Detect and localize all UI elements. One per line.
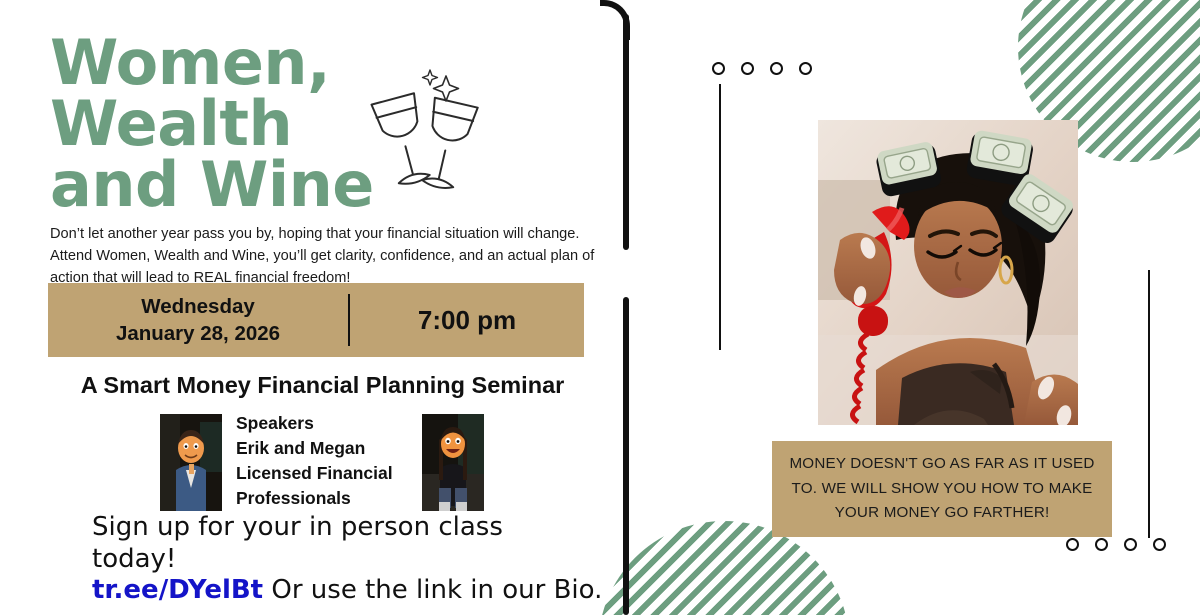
speakers-section: Speakers Erik and Megan Licensed Financi… [160, 414, 500, 514]
event-day-of-week: Wednesday [48, 293, 348, 320]
quote-text: MONEY DOESN'T GO AS FAR AS IT USED TO. W… [772, 452, 1112, 526]
left-content-column: Women, Wealth and Wine Don’t let another… [0, 0, 600, 615]
seminar-subtitle: A Smart Money Financial Planning Seminar [50, 372, 595, 399]
event-time: 7:00 pm [350, 305, 584, 336]
circle-dot-icon [770, 62, 783, 75]
date-time-banner: Wednesday January 28, 2026 7:00 pm [48, 283, 584, 357]
event-flyer: Women, Wealth and Wine Don’t let another… [0, 0, 1200, 615]
speakers-heading: Speakers [236, 411, 426, 436]
signup-headline: Sign up for your in person class today! [92, 512, 592, 575]
intro-paragraph: Don’t let another year pass you by, hopi… [50, 223, 595, 290]
thin-vertical-line-bottom-right-decoration [1148, 270, 1150, 538]
megan-portrait-illustration [422, 414, 484, 511]
speakers-text-block: Speakers Erik and Megan Licensed Financi… [236, 411, 426, 510]
hero-photo [818, 120, 1078, 425]
quote-box: MONEY DOESN'T GO AS FAR AS IT USED TO. W… [772, 441, 1112, 537]
signup-url-link[interactable]: tr.ee/DYelBt [92, 575, 263, 605]
woman-on-telephone-illustration [818, 120, 1078, 425]
speakers-names: Erik and Megan [236, 436, 426, 461]
speakers-credential-line-2: Professionals [236, 486, 426, 511]
circle-dot-icon [799, 62, 812, 75]
signup-bio-note: Or use the link in our Bio. [263, 575, 602, 605]
thin-vertical-line-top-right-decoration [719, 84, 721, 350]
speaker-photo-erik [160, 414, 222, 511]
event-date: January 28, 2026 [48, 320, 348, 347]
vertical-bar-lower-decoration [623, 297, 629, 615]
signup-call-to-action: Sign up for your in person class today! … [92, 512, 592, 607]
dot-row-top-decoration [712, 62, 812, 75]
circle-dot-icon [1066, 538, 1079, 551]
circle-dot-icon [1153, 538, 1166, 551]
speaker-photo-megan [422, 414, 484, 511]
wine-glasses-toast-icon [338, 68, 508, 198]
signup-link-line: tr.ee/DYelBt Or use the link in our Bio. [92, 575, 592, 607]
dot-row-bottom-decoration [1066, 538, 1166, 551]
circle-dot-icon [1124, 538, 1137, 551]
vertical-bar-upper-decoration [623, 14, 629, 250]
circle-dot-icon [712, 62, 725, 75]
erik-portrait-illustration [160, 414, 222, 511]
circle-dot-icon [741, 62, 754, 75]
speakers-credential-line-1: Licensed Financial [236, 461, 426, 486]
event-date-group: Wednesday January 28, 2026 [48, 293, 348, 347]
circle-dot-icon [1095, 538, 1108, 551]
